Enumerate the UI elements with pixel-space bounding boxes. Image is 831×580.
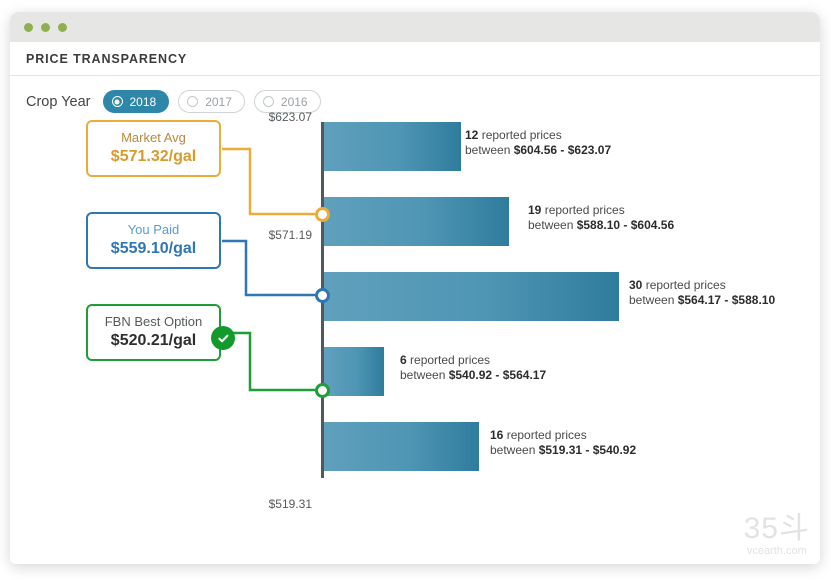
window-titlebar: [10, 12, 820, 42]
callout-value: $559.10/gal: [92, 238, 215, 259]
radio-selected-icon: [112, 96, 123, 107]
price-transparency-chart: 12 reported prices between $604.56 - $62…: [10, 115, 820, 564]
marker-fbn-best-option[interactable]: [315, 383, 330, 398]
callout-value: $520.21/gal: [92, 330, 215, 351]
crop-year-option-2018[interactable]: 2018: [103, 90, 170, 113]
callout-title: You Paid: [92, 221, 215, 238]
callout-market-avg[interactable]: Market Avg $571.32/gal: [86, 120, 221, 177]
radio-empty-icon: [187, 96, 198, 107]
card-header: PRICE TRANSPARENCY: [10, 42, 820, 76]
marker-market-avg[interactable]: [315, 207, 330, 222]
callout-you-paid[interactable]: You Paid $559.10/gal: [86, 212, 221, 269]
radio-empty-icon: [263, 96, 274, 107]
window-dot-maximize[interactable]: [58, 23, 67, 32]
marker-you-paid[interactable]: [315, 288, 330, 303]
callout-title: FBN Best Option: [92, 313, 215, 330]
crop-year-selector: Crop Year 2018 2017 2016: [10, 76, 820, 113]
window-dot-close[interactable]: [24, 23, 33, 32]
crop-year-label: Crop Year: [26, 94, 91, 110]
app-window: PRICE TRANSPARENCY Crop Year 2018 2017 2…: [10, 12, 820, 564]
page-title: PRICE TRANSPARENCY: [26, 52, 187, 66]
window-dot-minimize[interactable]: [41, 23, 50, 32]
check-icon: [211, 326, 235, 350]
callout-title: Market Avg: [92, 129, 215, 146]
crop-year-option-label: 2016: [281, 95, 308, 109]
crop-year-option-label: 2017: [205, 95, 232, 109]
callout-value: $571.32/gal: [92, 146, 215, 167]
callout-fbn-best-option[interactable]: FBN Best Option $520.21/gal: [86, 304, 221, 361]
crop-year-option-label: 2018: [130, 95, 157, 109]
